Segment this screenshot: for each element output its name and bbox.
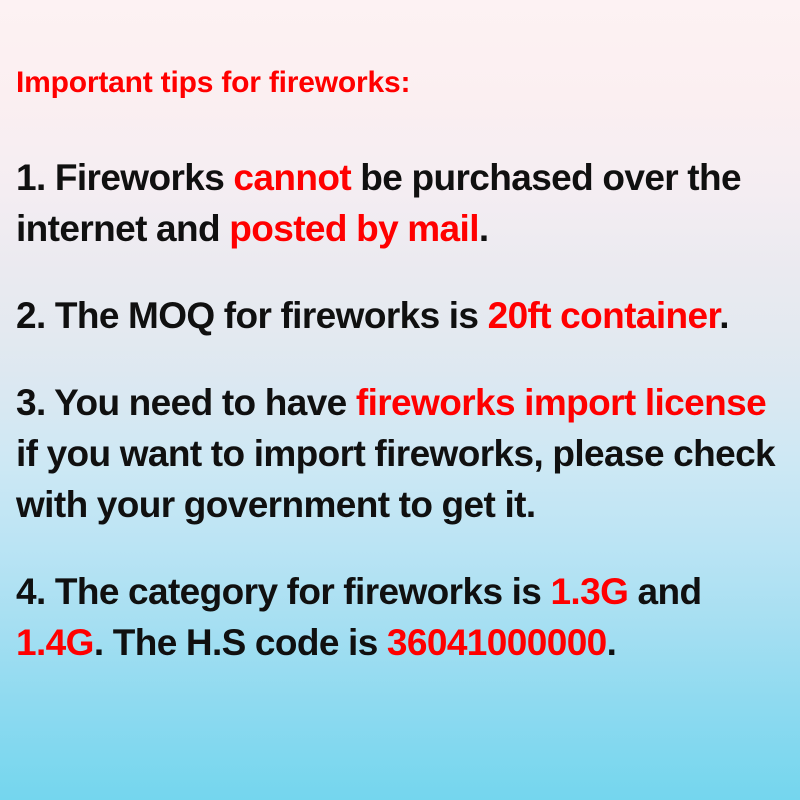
tip-3-highlight-import-license: fireworks import license <box>356 382 766 423</box>
tip-2-text-end: . <box>719 295 729 336</box>
fireworks-tips-card: Important tips for fireworks: 1. Firewor… <box>0 0 800 800</box>
tip-3-text-lead: 3. You need to have <box>16 382 356 423</box>
tip-4-highlight-class-13g: 1.3G <box>550 571 628 612</box>
tip-4-highlight-class-14g: 1.4G <box>16 622 94 663</box>
tip-4-text-mid: . The H.S code is <box>94 622 387 663</box>
tip-2-text-lead: 2. The MOQ for fireworks is <box>16 295 488 336</box>
tip-2-highlight-moq: 20ft container <box>488 295 720 336</box>
tip-1-text-lead: 1. Fireworks <box>16 157 233 198</box>
tip-1-highlight-cannot: cannot <box>233 157 351 198</box>
tip-item-1: 1. Fireworks cannot be purchased over th… <box>16 152 784 254</box>
tip-1-highlight-posted-by-mail: posted by mail <box>229 208 479 249</box>
tip-4-text-end: . <box>607 622 617 663</box>
tip-item-3: 3. You need to have fireworks import lic… <box>16 377 784 530</box>
tip-4-highlight-hs-code: 36041000000 <box>387 622 607 663</box>
tip-3-text-end: if you want to import fireworks, please … <box>16 433 775 525</box>
tip-1-text-end: . <box>479 208 489 249</box>
tip-item-2: 2. The MOQ for fireworks is 20ft contain… <box>16 290 784 341</box>
tip-item-4: 4. The category for fireworks is 1.3G an… <box>16 566 784 668</box>
page-title: Important tips for fireworks: <box>16 68 410 98</box>
tip-4-text-and: and <box>628 571 701 612</box>
tips-list: 1. Fireworks cannot be purchased over th… <box>16 152 784 668</box>
tip-4-text-lead: 4. The category for fireworks is <box>16 571 550 612</box>
